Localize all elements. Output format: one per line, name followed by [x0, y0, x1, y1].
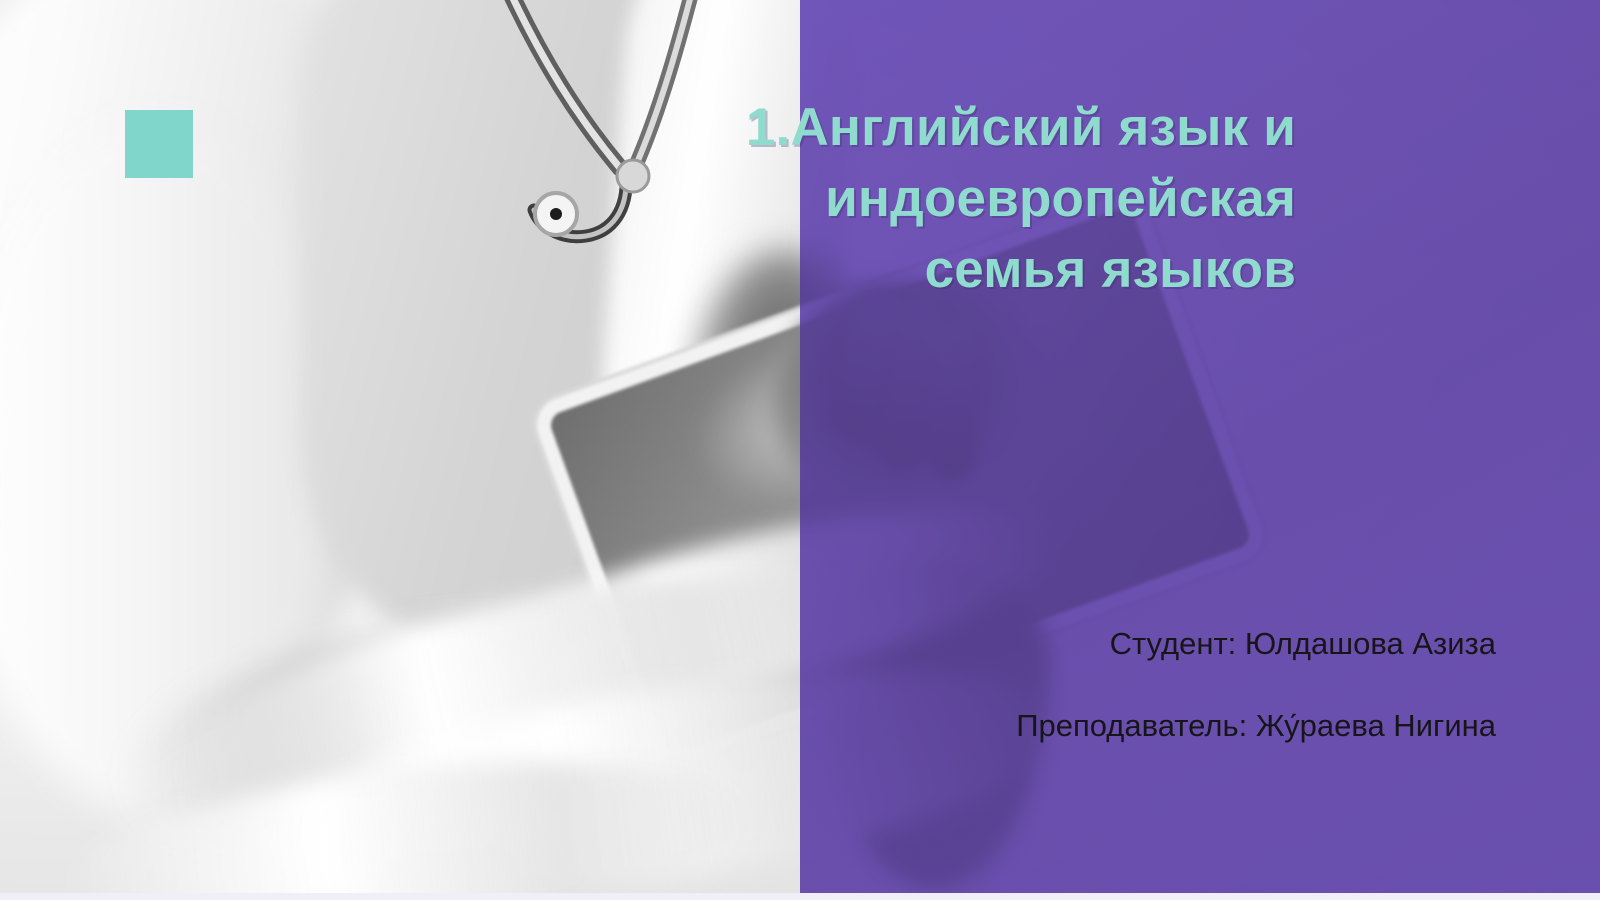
- bottom-edge-strip: [0, 893, 1600, 900]
- title-slide: 1.Английский язык и индоевропейская семь…: [0, 0, 1600, 900]
- teal-accent-square: [125, 110, 193, 178]
- page-title: 1.Английский язык и индоевропейская семь…: [430, 92, 1296, 305]
- credit-teacher: Преподаватель: Жу́раева Нигина: [700, 708, 1496, 744]
- credits-block: Студент: Юлдашова Азиза Преподаватель: Ж…: [700, 626, 1496, 743]
- credit-student: Студент: Юлдашова Азиза: [700, 626, 1496, 662]
